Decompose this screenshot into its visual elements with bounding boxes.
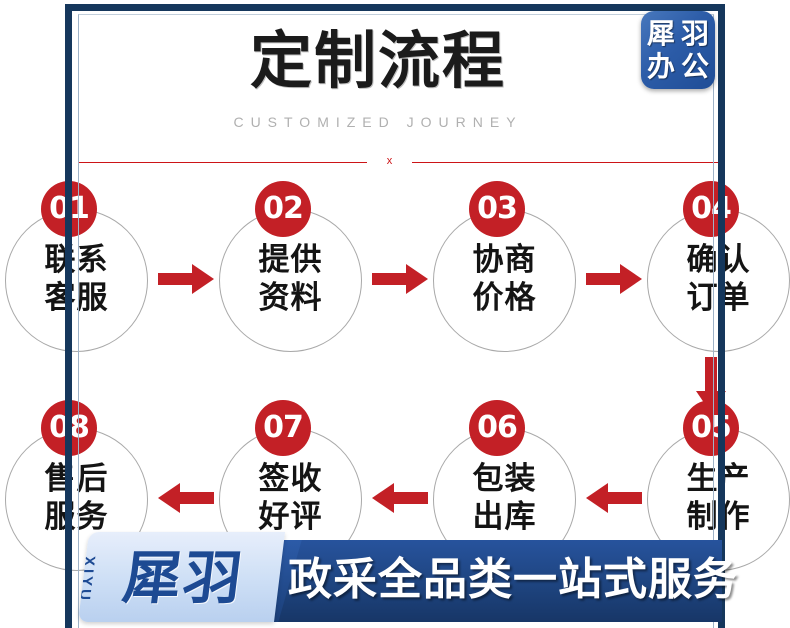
step-label-04: 确认 订单	[647, 241, 790, 317]
step-label-line1: 协商	[433, 241, 576, 279]
arrow-shaft	[392, 492, 428, 504]
arrow-shaft	[606, 492, 642, 504]
step-label-03: 协商 价格	[433, 241, 576, 317]
step-label-07: 签收 好评	[219, 460, 362, 536]
step-label-line1: 包装	[433, 460, 576, 498]
step-label-05: 生产 制作	[647, 460, 790, 536]
step-label-line1: 联系	[5, 241, 148, 279]
step-label-line1: 签收	[219, 460, 362, 498]
step-label-line1: 售后	[5, 460, 148, 498]
step-label-line2: 制作	[647, 498, 790, 536]
step-number-badge-06: 06	[469, 400, 525, 456]
banner-brand-cn: 犀羽	[119, 543, 248, 613]
step-label-line1: 确认	[647, 241, 790, 279]
divider-x-mark: x	[367, 155, 412, 167]
divider-rule-left	[78, 162, 367, 163]
arrow-head	[372, 483, 394, 513]
brand-badge-char-1: 犀	[644, 17, 678, 50]
bottom-brand-banner: XIYU 犀羽 政采全品类一站式服务	[78, 532, 722, 628]
arrow-head	[586, 483, 608, 513]
arrow-shaft	[158, 273, 194, 285]
banner-slogan: 政采全品类一站式服务	[288, 549, 718, 611]
arrow-shaft	[586, 273, 622, 285]
page-subtitle: CUSTOMIZED JOURNEY	[78, 114, 678, 130]
step-label-line2: 订单	[647, 279, 790, 317]
step-number-badge-01: 01	[41, 181, 97, 237]
step-label-line1: 提供	[219, 241, 362, 279]
flow-step-03: 协商 价格 03	[433, 209, 576, 352]
arrow-right-01-to-02	[158, 262, 214, 296]
arrow-head	[620, 264, 642, 294]
divider-rule-right	[412, 162, 722, 163]
banner-light-content: XIYU 犀羽	[78, 532, 285, 622]
arrow-right-02-to-03	[372, 262, 428, 296]
step-label-line2: 出库	[433, 498, 576, 536]
step-label-02: 提供 资料	[219, 241, 362, 317]
brand-logo-badge: 犀 羽 办 公	[641, 11, 715, 89]
banner-brand-en: XIYU	[78, 556, 98, 603]
step-number-badge-08: 08	[41, 400, 97, 456]
arrow-left-07-to-08	[158, 481, 214, 515]
step-label-line2: 客服	[5, 279, 148, 317]
arrow-shaft	[178, 492, 214, 504]
arrow-shaft	[372, 273, 408, 285]
step-number-badge-03: 03	[469, 181, 525, 237]
step-label-line1: 生产	[647, 460, 790, 498]
flow-step-04: 确认 订单 04	[647, 209, 790, 352]
arrow-head	[192, 264, 214, 294]
brand-badge-char-3: 办	[644, 50, 678, 83]
brand-badge-char-2: 羽	[678, 17, 712, 50]
arrow-head	[158, 483, 180, 513]
flow-step-02: 提供 资料 02	[219, 209, 362, 352]
step-number-badge-07: 07	[255, 400, 311, 456]
header: 定制流程 CUSTOMIZED JOURNEY x	[78, 10, 722, 170]
page-title: 定制流程	[78, 22, 678, 100]
step-label-line2: 好评	[219, 498, 362, 536]
arrow-left-06-to-07	[372, 481, 428, 515]
step-label-line2: 价格	[433, 279, 576, 317]
step-label-06: 包装 出库	[433, 460, 576, 536]
arrow-right-03-to-04	[586, 262, 642, 296]
step-number-badge-04: 04	[683, 181, 739, 237]
banner-light-panel: XIYU 犀羽	[78, 532, 285, 622]
step-number-badge-02: 02	[255, 181, 311, 237]
step-label-01: 联系 客服	[5, 241, 148, 317]
arrow-left-05-to-06	[586, 481, 642, 515]
step-label-line2: 资料	[219, 279, 362, 317]
flow-step-01: 联系 客服 01	[5, 209, 148, 352]
step-number-badge-05: 05	[683, 400, 739, 456]
step-label-08: 售后 服务	[5, 460, 148, 536]
arrow-head	[406, 264, 428, 294]
arrow-shaft	[705, 357, 717, 393]
divider: x	[78, 155, 722, 169]
step-label-line2: 服务	[5, 498, 148, 536]
brand-badge-char-4: 公	[678, 50, 712, 83]
